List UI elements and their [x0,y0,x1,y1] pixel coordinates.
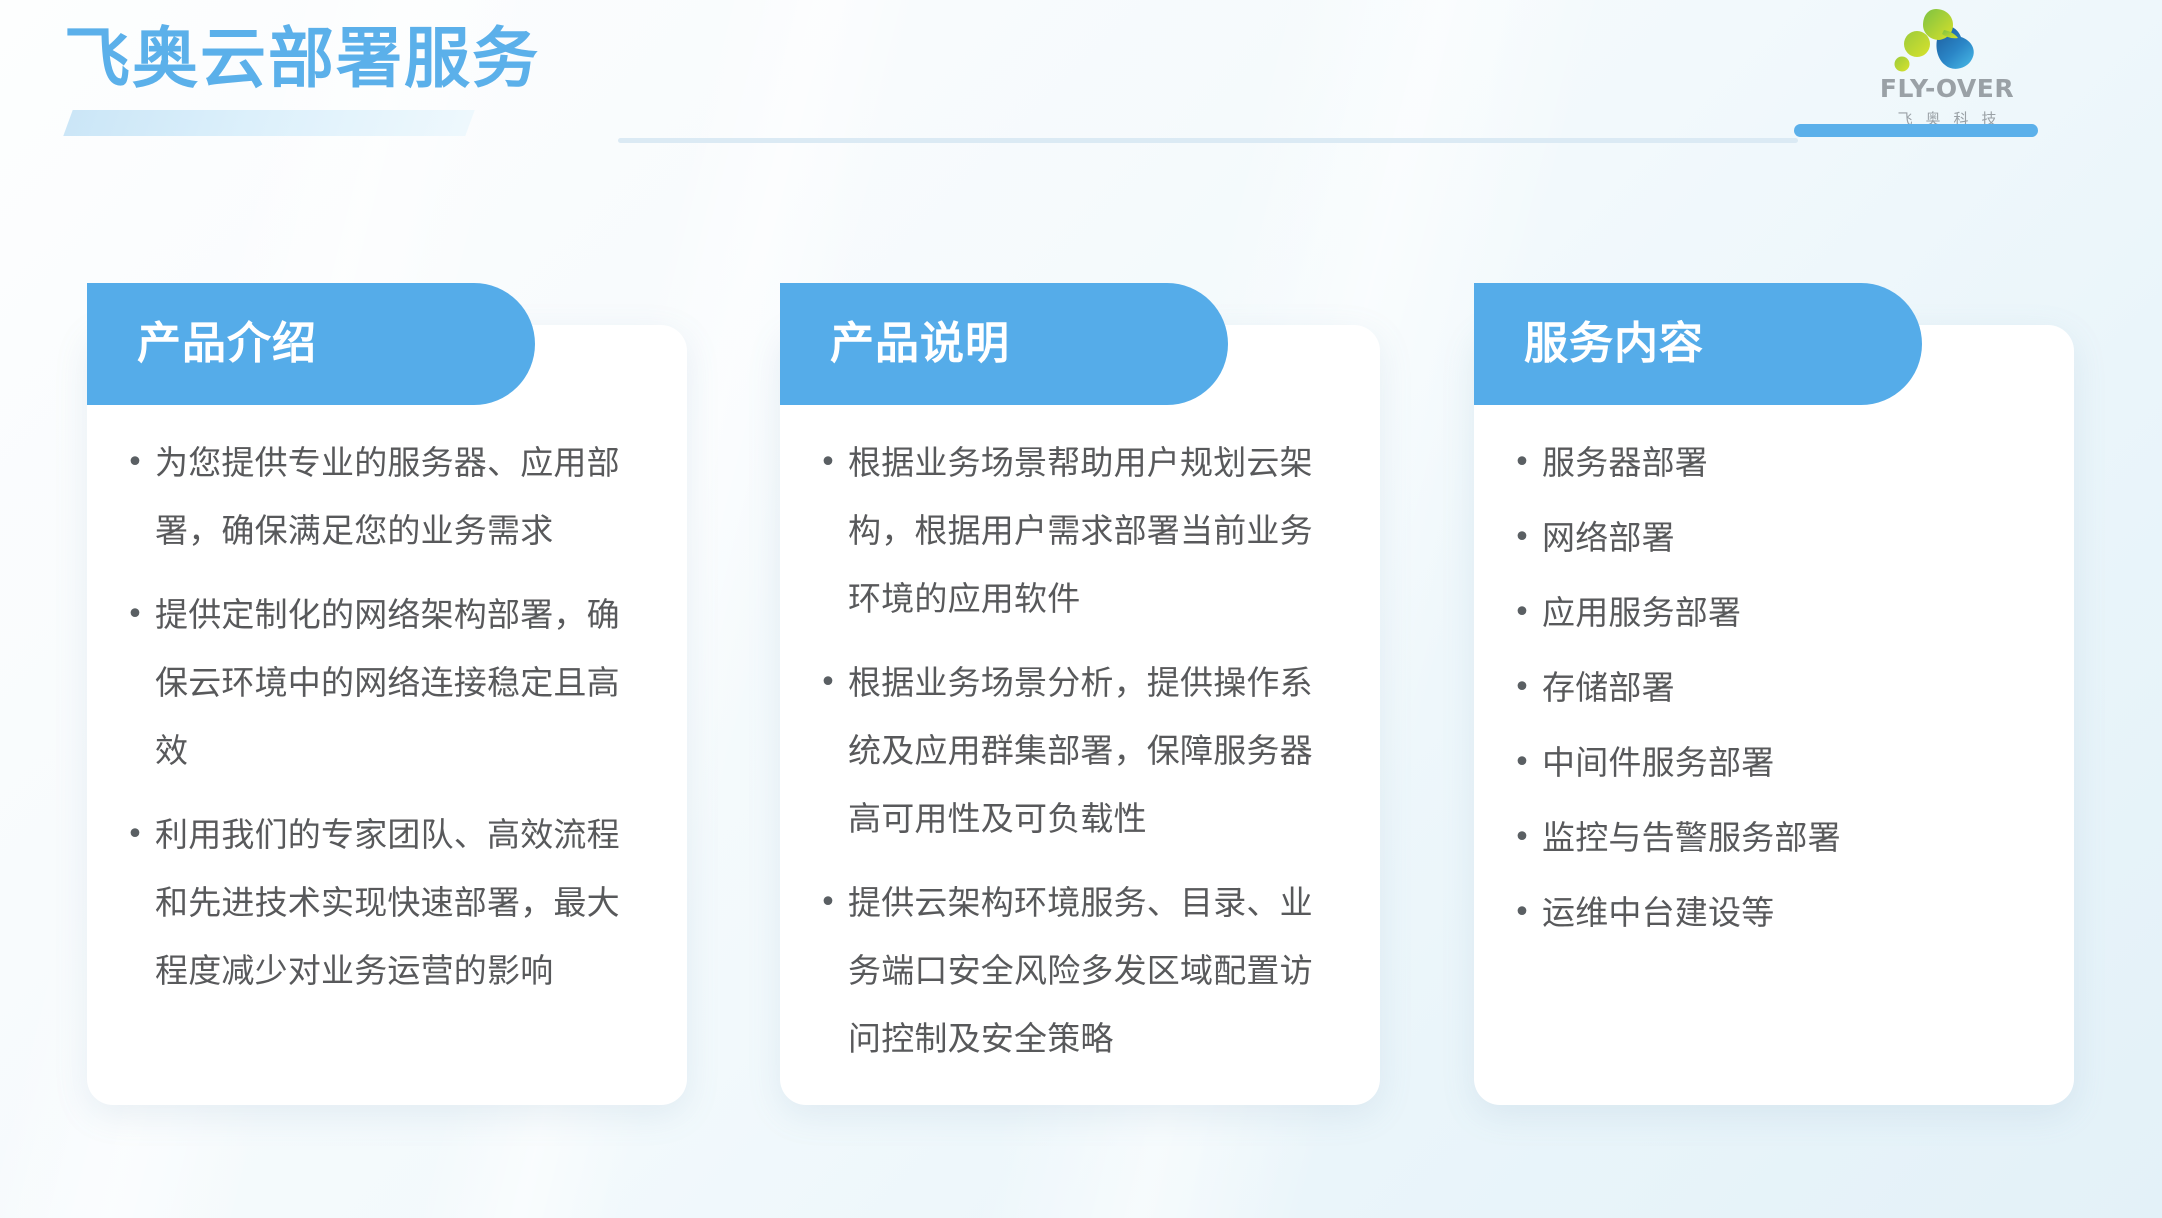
list-item: • 根据业务场景分析，提供操作系统及应用群集部署，保障服务器高可用性及可负载性 [808,649,1340,853]
list-item-text: 服务器部署 [1542,429,2034,497]
list-item-text: 为您提供专业的服务器、应用部署，确保满足您的业务需求 [155,429,647,565]
card-title: 产品介绍 [137,322,317,366]
bullet-icon: • [808,429,848,497]
bullet-icon: • [1502,429,1542,497]
list-item-text: 中间件服务部署 [1542,729,2034,797]
list-item-text: 存储部署 [1542,654,2034,722]
card-header-product-introduction: 产品介绍 [87,283,535,405]
list-item: • 利用我们的专家团队、高效流程和先进技术实现快速部署，最大程度减少对业务运营的… [115,801,647,1005]
card-body: • 服务器部署 • 网络部署 • 应用服务部署 • 存储部署 • 中间件服务 [1474,429,2074,954]
list-item: • 监控与告警服务部署 [1502,804,2034,872]
list-item: • 应用服务部署 [1502,579,2034,647]
list-item-text: 根据业务场景分析，提供操作系统及应用群集部署，保障服务器高可用性及可负载性 [848,649,1340,853]
card-body: • 为您提供专业的服务器、应用部署，确保满足您的业务需求 • 提供定制化的网络架… [87,429,687,1021]
list-item: • 运维中台建设等 [1502,879,2034,947]
cards-container: 产品介绍 • 为您提供专业的服务器、应用部署，确保满足您的业务需求 • 提供定制… [0,0,2162,1218]
bullet-icon: • [1502,504,1542,572]
bullet-icon: • [1502,579,1542,647]
bullet-icon: • [808,869,848,937]
card-title: 服务内容 [1524,322,1704,366]
list-item: • 存储部署 [1502,654,2034,722]
list-item-text: 应用服务部署 [1542,579,2034,647]
card-product-description: 产品说明 • 根据业务场景帮助用户规划云架构，根据用户需求部署当前业务环境的应用… [780,325,1380,1105]
card-title: 产品说明 [830,322,1010,366]
list-item-text: 利用我们的专家团队、高效流程和先进技术实现快速部署，最大程度减少对业务运营的影响 [155,801,647,1005]
card-header-service-content: 服务内容 [1474,283,1922,405]
card-service-content: 服务内容 • 服务器部署 • 网络部署 • 应用服务部署 • 存储部署 [1474,325,2074,1105]
card-product-introduction: 产品介绍 • 为您提供专业的服务器、应用部署，确保满足您的业务需求 • 提供定制… [87,325,687,1105]
bullet-icon: • [1502,654,1542,722]
bullet-icon: • [115,581,155,649]
list-item-text: 运维中台建设等 [1542,879,2034,947]
list-item: • 中间件服务部署 [1502,729,2034,797]
card-body: • 根据业务场景帮助用户规划云架构，根据用户需求部署当前业务环境的应用软件 • … [780,429,1380,1089]
list-item: • 网络部署 [1502,504,2034,572]
bullet-icon: • [115,801,155,869]
list-item: • 服务器部署 [1502,429,2034,497]
bullet-icon: • [115,429,155,497]
slide-canvas: 飞奥云部署服务 [0,0,2162,1218]
list-item-text: 根据业务场景帮助用户规划云架构，根据用户需求部署当前业务环境的应用软件 [848,429,1340,633]
list-item: • 提供云架构环境服务、目录、业务端口安全风险多发区域配置访问控制及安全策略 [808,869,1340,1073]
bullet-icon: • [1502,879,1542,947]
bullet-icon: • [1502,804,1542,872]
card-header-product-description: 产品说明 [780,283,1228,405]
bullet-icon: • [808,649,848,717]
list-item: • 提供定制化的网络架构部署，确保云环境中的网络连接稳定且高效 [115,581,647,785]
list-item: • 为您提供专业的服务器、应用部署，确保满足您的业务需求 [115,429,647,565]
list-item-text: 监控与告警服务部署 [1542,804,2034,872]
list-item-text: 网络部署 [1542,504,2034,572]
list-item-text: 提供定制化的网络架构部署，确保云环境中的网络连接稳定且高效 [155,581,647,785]
list-item-text: 提供云架构环境服务、目录、业务端口安全风险多发区域配置访问控制及安全策略 [848,869,1340,1073]
list-item: • 根据业务场景帮助用户规划云架构，根据用户需求部署当前业务环境的应用软件 [808,429,1340,633]
bullet-icon: • [1502,729,1542,797]
